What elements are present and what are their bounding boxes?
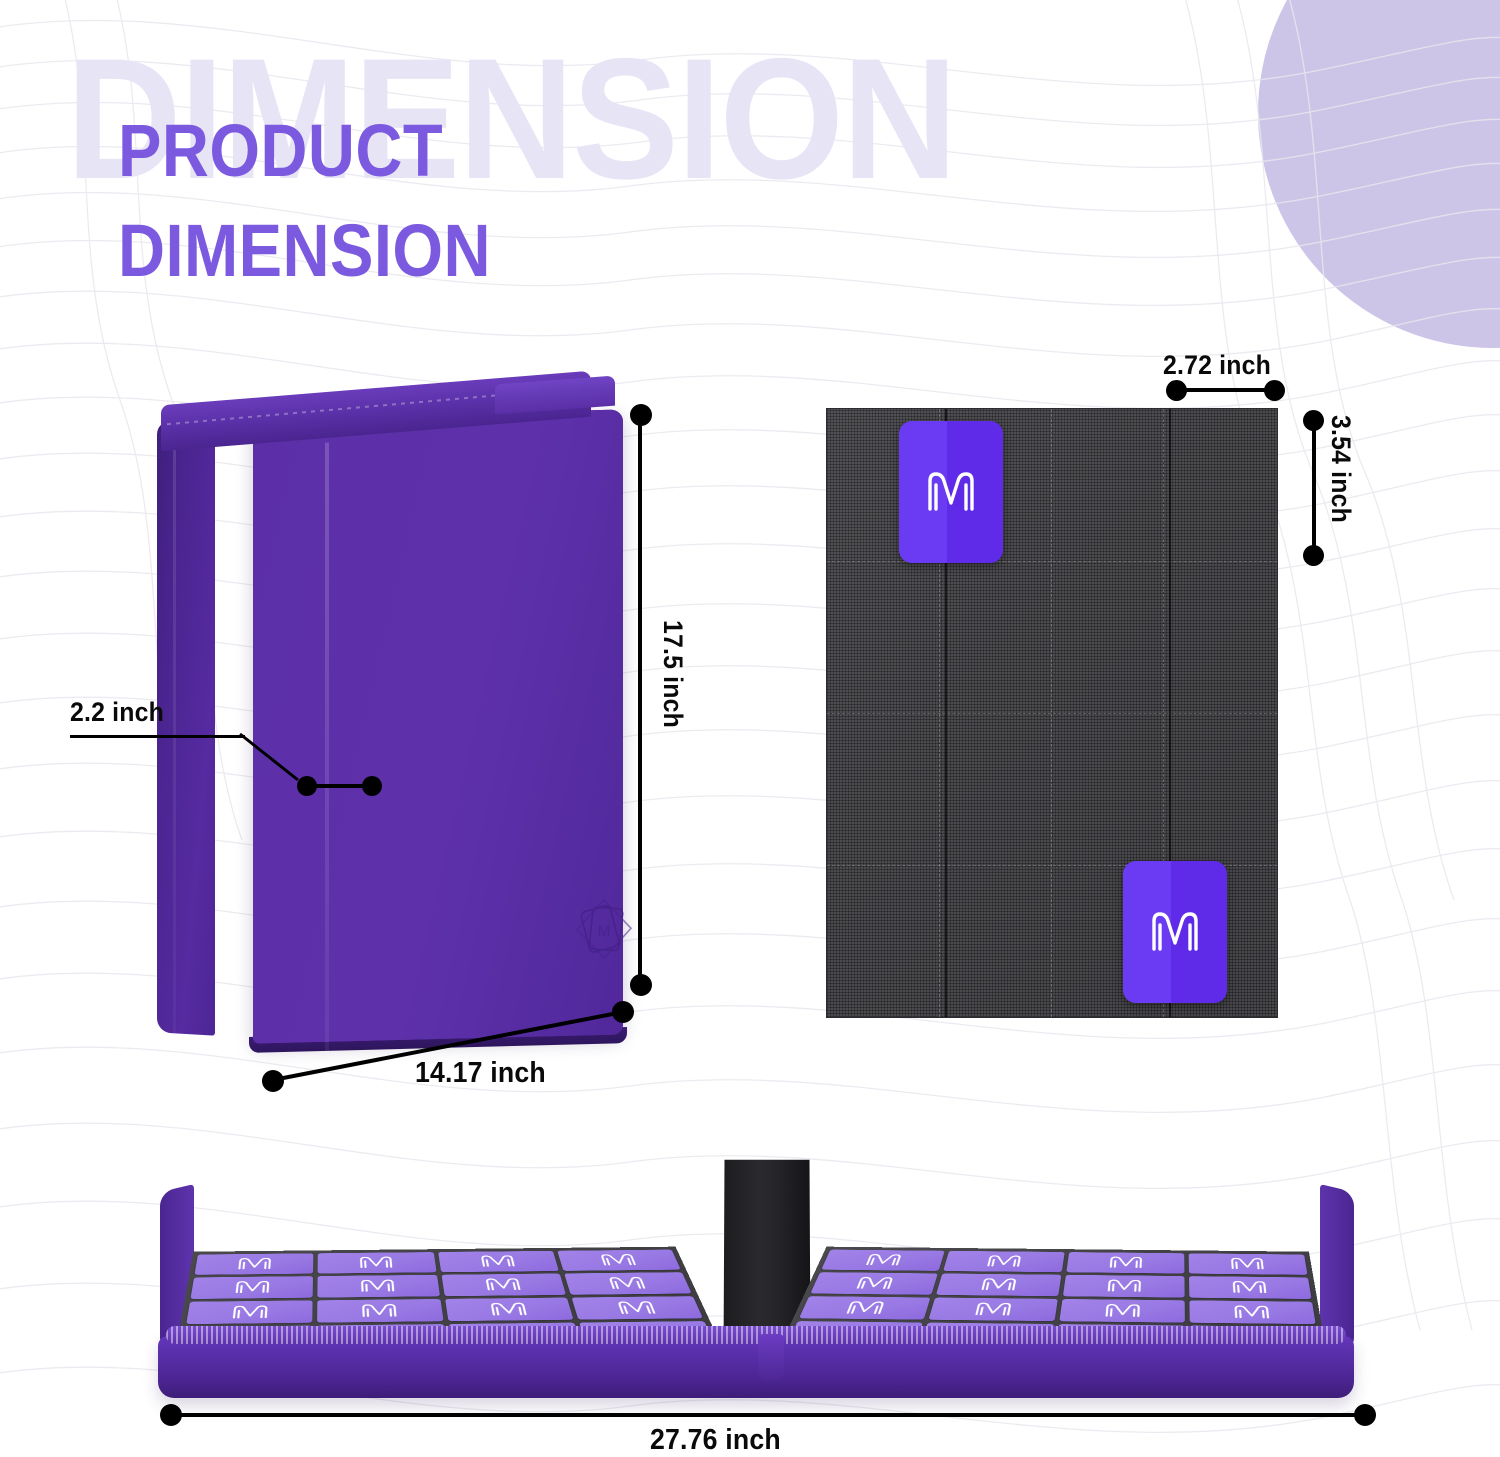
card-m-logo-icon [234, 1256, 275, 1271]
open-binder-card [1066, 1252, 1184, 1273]
width-dot-right [612, 1001, 634, 1023]
pocket-width-dot-left [1166, 380, 1187, 401]
dimension-label-open-width: 27.76 inch [650, 1424, 781, 1457]
card-m-logo-icon [596, 1253, 641, 1268]
open-binder-card [318, 1275, 440, 1298]
card-m-logo-icon [842, 1299, 890, 1316]
open-binder-card [195, 1253, 314, 1274]
card-m-logo-icon [861, 1253, 906, 1268]
page-gridline-h2 [827, 713, 1277, 715]
open-binder-card [810, 1272, 938, 1295]
sleeve-card-top [899, 421, 1003, 563]
open-binder-card [317, 1299, 443, 1323]
open-binder-card [441, 1273, 566, 1296]
open-binder-card [1189, 1276, 1312, 1299]
card-m-logo-icon [231, 1279, 273, 1295]
pocket-width-dot-right [1264, 380, 1285, 401]
open-binder-card [318, 1252, 436, 1273]
dimension-label-width: 14.17 inch [415, 1057, 546, 1090]
card-m-logo-icon [983, 1254, 1026, 1269]
card-m-logo-icon [1146, 905, 1204, 959]
open-binder-card [1062, 1275, 1184, 1298]
binder-spine [157, 420, 215, 1035]
page-title-line-1: PRODUCT [118, 108, 443, 193]
pocket-width-measure-line [1176, 388, 1274, 392]
open-binder-shell [158, 1158, 1354, 1408]
card-m-logo-icon [604, 1275, 650, 1291]
open-binder-card [936, 1273, 1061, 1296]
dimension-label-pocket-width: 2.72 inch [1163, 350, 1271, 381]
open-binder-cover-base [158, 1336, 1354, 1398]
card-m-logo-icon [357, 1278, 399, 1294]
page-title-block: DIMENSION PRODUCT DIMENSION [62, 38, 1162, 298]
card-m-logo-icon [356, 1255, 396, 1270]
thickness-label-underline [70, 735, 245, 738]
card-m-logo-icon [1101, 1302, 1144, 1319]
open-binder-card [571, 1296, 703, 1320]
binder-spine-ridge [173, 421, 176, 1033]
open-binder-card [799, 1296, 931, 1320]
open-binder-card [186, 1300, 313, 1324]
sleeve-page-sheet [826, 408, 1278, 1018]
open-binder-card [1189, 1300, 1316, 1324]
open-binder-card [943, 1251, 1064, 1272]
open-binder-card [564, 1272, 692, 1295]
binder-hinge-line [325, 443, 329, 1061]
binder-cover: M [253, 409, 623, 1043]
pocket-height-measure-line [1312, 420, 1316, 554]
open-binder-card [1188, 1253, 1307, 1274]
pocket-height-dot-top [1303, 410, 1324, 431]
width-dot-left [262, 1070, 284, 1092]
height-dot-top [630, 404, 652, 426]
card-m-logo-icon [1103, 1278, 1145, 1294]
card-m-logo-icon [977, 1277, 1021, 1293]
sleeve-card-bottom [1123, 861, 1227, 1003]
card-m-logo-icon [1230, 1303, 1274, 1320]
open-binder-card [821, 1250, 945, 1271]
card-m-logo-icon [922, 465, 980, 519]
open-binder-card [191, 1276, 314, 1299]
open-width-measure-line [170, 1413, 1365, 1417]
open-binder-figure [140, 1150, 1380, 1420]
thickness-dot-right [362, 776, 382, 796]
sleeve-page-figure [826, 408, 1276, 1016]
pocket-height-dot-bottom [1303, 545, 1324, 566]
infographic-canvas: DIMENSION PRODUCT DIMENSION M [0, 0, 1500, 1457]
card-m-logo-icon [476, 1254, 519, 1269]
card-m-logo-icon [852, 1275, 898, 1291]
open-binder-card [438, 1251, 559, 1272]
open-binder-zipper [166, 1326, 1346, 1344]
card-m-logo-icon [358, 1302, 401, 1319]
open-binder-card [1059, 1299, 1185, 1323]
card-m-logo-icon [1228, 1279, 1270, 1295]
binder-front-face [253, 409, 623, 1043]
open-binder-card [557, 1250, 681, 1271]
card-m-logo-icon [481, 1277, 525, 1293]
height-dot-bottom [630, 974, 652, 996]
open-binder-card [929, 1297, 1058, 1321]
svg-text:M: M [598, 923, 610, 940]
dimension-label-thickness: 2.2 inch [70, 697, 164, 728]
dimension-label-height: 17.5 inch [657, 620, 688, 728]
card-m-logo-icon [486, 1301, 531, 1318]
open-width-dot-left [160, 1404, 182, 1426]
binder-emblem-icon: M [573, 897, 635, 961]
card-m-logo-icon [613, 1299, 661, 1316]
page-gridline-h1 [827, 561, 1277, 563]
card-m-logo-icon [1227, 1256, 1268, 1271]
open-width-dot-right [1354, 1404, 1376, 1426]
thickness-dot-left [297, 776, 317, 796]
page-title-line-2: DIMENSION [118, 208, 491, 293]
height-measure-line [638, 412, 642, 984]
zipper-pull-icon [758, 1334, 784, 1380]
open-binder-card [445, 1297, 574, 1321]
card-m-logo-icon [228, 1303, 272, 1320]
card-m-logo-icon [971, 1301, 1016, 1318]
dimension-label-pocket-height: 3.54 inch [1325, 415, 1356, 523]
card-m-logo-icon [1105, 1255, 1145, 1270]
